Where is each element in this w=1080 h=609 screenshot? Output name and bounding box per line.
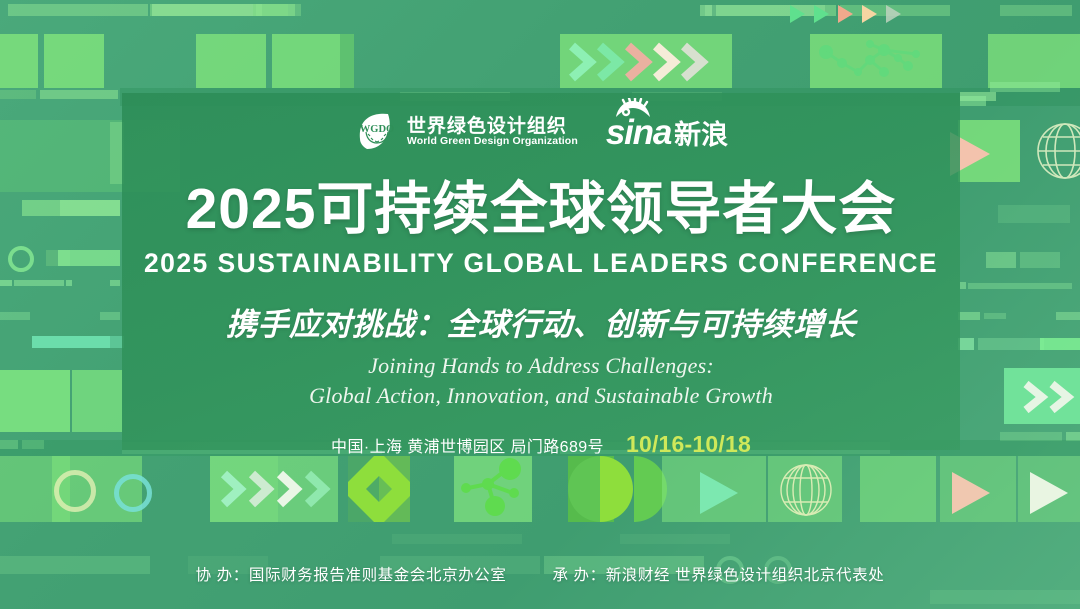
deco-block [272, 34, 340, 88]
deco-bar [0, 280, 12, 286]
wgdo-text: 世界绿色设计组织 World Green Design Organization [407, 117, 578, 148]
deco-bar [1040, 338, 1080, 350]
deco-block [860, 456, 936, 522]
wgdo-name-cn: 世界绿色设计组织 [407, 117, 578, 137]
deco-bar [960, 282, 966, 289]
play-triangle-icon [700, 472, 738, 514]
sina-name-cn: 新浪 [674, 122, 728, 150]
globe-icon [778, 462, 834, 518]
wgdo-name-en: World Green Design Organization [407, 136, 578, 147]
deco-bar [152, 4, 262, 16]
chevron-icon [556, 34, 736, 90]
sina-logo: sina 新浪 [606, 115, 728, 150]
deco-block [340, 34, 354, 88]
conference-subtitle-cn: 携手应对挑战：全球行动、创新与可持续增长 [226, 299, 856, 344]
deco-bar [984, 313, 1006, 319]
ring-icon [54, 470, 96, 512]
sina-wordmark: sina [606, 115, 671, 150]
deco-bar [930, 590, 1080, 604]
half-circle-icon [600, 456, 633, 522]
play-triangle-icon [952, 472, 990, 514]
deco-bar [1000, 5, 1072, 16]
deco-bar [1056, 312, 1080, 320]
deco-bar [620, 534, 730, 544]
deco-bar [990, 82, 1060, 92]
deco-bar [66, 280, 72, 286]
main-content-panel: WGDO 世界绿色设计组织 World Green Design Organiz… [122, 93, 960, 450]
molecule-icon [454, 456, 532, 522]
deco-bar [58, 250, 120, 266]
venue-text: 中国·上海 黄浦世博园区 局门路689号 [331, 433, 604, 457]
conference-poster: WGDO 世界绿色设计组织 World Green Design Organiz… [0, 0, 1080, 609]
deco-bar [32, 336, 110, 348]
deco-bar [998, 205, 1070, 223]
deco-bar [8, 4, 148, 16]
deco-bar [0, 312, 30, 320]
molecule-icon [812, 36, 942, 86]
deco-bar [960, 96, 986, 106]
chevron-icon [206, 458, 356, 520]
globe-icon [1034, 120, 1080, 182]
diamond-arrow-icon [348, 456, 410, 522]
conference-subtitle-en-line2: Global Action, Innovation, and Sustainab… [309, 383, 773, 409]
wgdo-logo: WGDO 世界绿色设计组织 World Green Design Organiz… [354, 109, 578, 155]
deco-bar [100, 312, 120, 320]
deco-bar [0, 90, 36, 99]
deco-bar [110, 280, 120, 286]
wgdo-leaf-wreath-icon: WGDO [354, 109, 400, 155]
svg-text:WGDO: WGDO [360, 124, 394, 135]
ring-icon [114, 474, 152, 512]
triangle-icon [790, 5, 805, 23]
deco-block [196, 34, 266, 88]
triangle-icon [838, 5, 853, 23]
deco-bar [392, 534, 522, 544]
deco-bar [968, 283, 1072, 289]
chevron-icon [1012, 372, 1080, 422]
date-text: 10/16-10/18 [626, 431, 751, 458]
venue-date-row: 中国·上海 黄浦世博园区 局门路689号 10/16-10/18 [331, 431, 751, 458]
deco-bar [40, 90, 118, 99]
organizer-footer: 协 办：国际财务报告准则基金会北京办公室 承 办：新浪财经 世界绿色设计组织北京… [0, 563, 1080, 585]
deco-bar [958, 312, 980, 320]
sina-eye-icon [614, 98, 652, 118]
deco-bar [986, 252, 1016, 268]
conference-subtitle-en-line1: Joining Hands to Address Challenges: [368, 353, 714, 379]
deco-block [0, 370, 70, 432]
ring-icon [8, 246, 34, 272]
triangle-icon [814, 5, 829, 23]
deco-bar [1020, 252, 1060, 268]
deco-block [44, 34, 104, 88]
play-triangle-icon [1030, 472, 1068, 514]
deco-block [988, 34, 1080, 88]
logo-row: WGDO 世界绿色设计组织 World Green Design Organiz… [354, 109, 728, 155]
deco-bar [958, 338, 974, 350]
deco-bar [60, 200, 120, 216]
conference-title-cn: 2025可持续全球领导者大会 [186, 163, 897, 245]
co-organizer-text: 协 办：国际财务报告准则基金会北京办公室 [196, 563, 507, 585]
deco-bar [14, 280, 64, 286]
deco-bar [978, 338, 1044, 350]
deco-block [72, 370, 122, 432]
triangle-icon [886, 5, 901, 23]
deco-block [0, 34, 38, 88]
host-organizer-text: 承 办：新浪财经 世界绿色设计组织北京代表处 [552, 563, 884, 585]
conference-title-en: 2025 SUSTAINABILITY GLOBAL LEADERS CONFE… [144, 248, 938, 279]
triangle-icon [862, 5, 877, 23]
deco-bar [256, 4, 301, 16]
deco-bar [705, 5, 825, 16]
